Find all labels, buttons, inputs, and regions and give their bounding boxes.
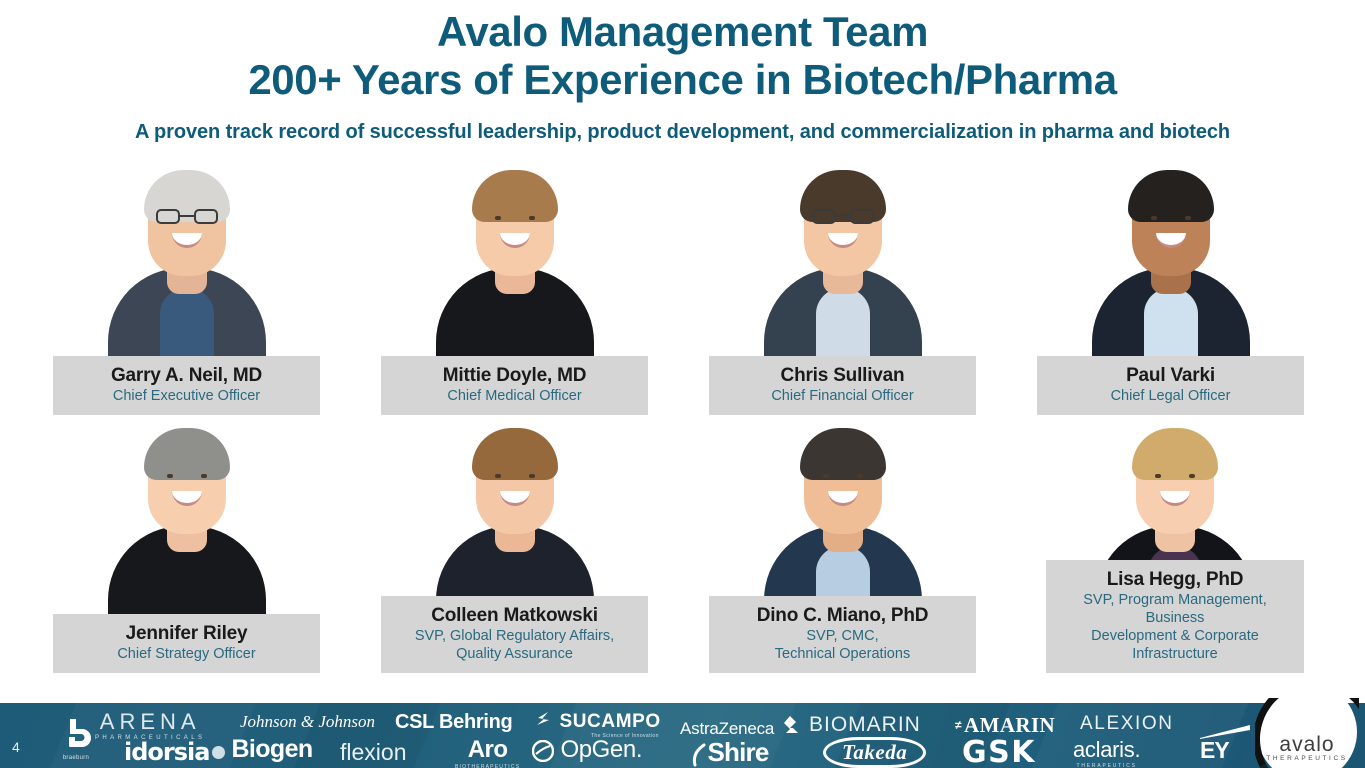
logo-takeda-text: Takeda [823, 737, 926, 768]
logo-aclaris: aclaris. THERAPEUTICS [1073, 737, 1140, 768]
member-name: Lisa Hegg, PhD [1052, 568, 1298, 591]
member-role-line2: Technical Operations [715, 645, 970, 663]
member-nameplate: Garry A. Neil, MD Chief Executive Office… [53, 356, 320, 415]
member-name: Dino C. Miano, PhD [715, 604, 970, 627]
logo-biogen: Biogen [212, 735, 313, 764]
member-photo [53, 160, 320, 360]
team-member-card[interactable]: Paul Varki Chief Legal Officer [1037, 160, 1304, 415]
member-role: Chief Legal Officer [1043, 387, 1298, 405]
member-name: Jennifer Riley [59, 622, 314, 645]
member-nameplate: Dino C. Miano, PhD SVP, CMC, Technical O… [709, 596, 976, 673]
team-grid: Garry A. Neil, MD Chief Executive Office… [0, 160, 1365, 690]
title-block: Avalo Management Team 200+ Years of Expe… [0, 8, 1365, 104]
logo-biomarin-text: BIOMARIN [809, 713, 921, 736]
logo-astrazeneca-text: AstraZeneca [680, 719, 774, 738]
member-nameplate: Mittie Doyle, MD Chief Medical Officer [381, 356, 648, 415]
page-subtitle: A proven track record of successful lead… [0, 120, 1365, 144]
logo-aro-text: Aro [468, 736, 508, 763]
page-title-line2: 200+ Years of Experience in Biotech/Phar… [0, 56, 1365, 104]
logo-shire-text: Shire [707, 737, 768, 767]
amarin-mark-icon: ≠ [955, 718, 962, 732]
member-nameplate: Jennifer Riley Chief Strategy Officer [53, 614, 320, 673]
logo-gsk: GSK [962, 735, 1036, 768]
team-member-card[interactable]: Dino C. Miano, PhD SVP, CMC, Technical O… [709, 418, 976, 673]
logo-aro-sub: BIOTHERAPEUTICS [455, 764, 520, 768]
team-member-card[interactable]: Lisa Hegg, PhD SVP, Program Management, … [1046, 418, 1304, 673]
logo-aclaris-text: aclaris. [1073, 737, 1140, 762]
member-role-line2: Development & Corporate Infrastructure [1052, 627, 1298, 663]
logo-braeburn-text: braeburn [58, 755, 94, 761]
logo-gsk-text: GSK [962, 735, 1036, 768]
logo-takeda: Takeda [823, 737, 926, 768]
astrazeneca-mark-icon [779, 715, 801, 737]
member-role: SVP, Program Management, Business [1052, 591, 1298, 627]
glasses-icon [156, 209, 218, 224]
logo-idorsia: idorsia [124, 738, 209, 766]
team-member-card[interactable]: Chris Sullivan Chief Financial Officer [709, 160, 976, 415]
logo-ey: EY [1200, 725, 1252, 764]
logo-opgen: OpGen. [532, 736, 642, 764]
logo-csl-behring: CSL Behring [395, 711, 512, 734]
member-name: Colleen Matkowski [387, 604, 642, 627]
braeburn-mark-icon [58, 717, 94, 751]
member-nameplate: Lisa Hegg, PhD SVP, Program Management, … [1046, 560, 1304, 673]
opgen-mark-icon [532, 740, 554, 762]
member-role: Chief Financial Officer [715, 387, 970, 405]
logo-jnj-text: Johnson & Johnson [240, 712, 375, 731]
logo-aclaris-sub: THERAPEUTICS [1073, 763, 1140, 768]
team-member-card[interactable]: Jennifer Riley Chief Strategy Officer [53, 418, 320, 673]
member-name: Chris Sullivan [715, 364, 970, 387]
shire-swoosh-icon [690, 743, 706, 767]
logo-shire: Shire [690, 737, 768, 768]
footer-logo-bar: 4 braeburn ARENA PHARMACEUTICALS idorsia… [0, 703, 1365, 768]
logo-flexion-text: flexion [340, 739, 406, 765]
team-row-2: Jennifer Riley Chief Strategy Officer [0, 418, 1365, 673]
page-title-line1: Avalo Management Team [0, 8, 1365, 56]
logo-aro: Aro BIOTHERAPEUTICS [455, 736, 520, 768]
logo-alexion-text: ALEXION [1080, 713, 1174, 734]
member-role: SVP, CMC, [715, 627, 970, 645]
logo-arena: ARENA PHARMACEUTICALS [95, 709, 205, 741]
logo-sucampo-text: SUCAMPO [559, 711, 660, 732]
partner-logo-list: braeburn ARENA PHARMACEUTICALS idorsia J… [40, 703, 1270, 768]
page-number: 4 [12, 739, 20, 755]
member-name: Garry A. Neil, MD [59, 364, 314, 387]
logo-alexion: ALEXION [1080, 713, 1174, 735]
member-photo [1037, 160, 1304, 360]
member-photo [709, 160, 976, 360]
team-member-card[interactable]: Colleen Matkowski SVP, Global Regulatory… [381, 418, 648, 673]
logo-amarin-text: AMARIN [964, 713, 1055, 737]
slide-root: Avalo Management Team 200+ Years of Expe… [0, 0, 1365, 768]
team-row-1: Garry A. Neil, MD Chief Executive Office… [0, 160, 1365, 415]
avalo-wordmark: avalo [1255, 734, 1359, 755]
logo-astrazeneca: AstraZeneca [680, 715, 801, 739]
logo-flexion: flexion [340, 739, 406, 766]
logo-idorsia-text: idorsia [124, 738, 209, 766]
member-name: Mittie Doyle, MD [387, 364, 642, 387]
member-role: Chief Strategy Officer [59, 645, 314, 663]
team-member-card[interactable]: Mittie Doyle, MD Chief Medical Officer [381, 160, 648, 415]
member-role: SVP, Global Regulatory Affairs, [387, 627, 642, 645]
member-photo [709, 418, 976, 618]
member-nameplate: Chris Sullivan Chief Financial Officer [709, 356, 976, 415]
member-photo [53, 418, 320, 618]
logo-biomarin: BIOMARIN [809, 713, 921, 737]
member-photo [381, 418, 648, 618]
member-name: Paul Varki [1043, 364, 1298, 387]
logo-opgen-text: OpGen. [560, 736, 642, 763]
team-member-card[interactable]: Garry A. Neil, MD Chief Executive Office… [53, 160, 320, 415]
member-photo [381, 160, 648, 360]
logo-arena-text: ARENA [100, 709, 201, 734]
logo-ey-text: EY [1200, 737, 1252, 764]
logo-braeburn: braeburn [58, 717, 94, 761]
avalo-brand-badge: avalo THERAPEUTICS [1255, 698, 1359, 768]
logo-johnson-and-johnson: Johnson & Johnson [240, 712, 375, 732]
biogen-dot-icon [212, 746, 225, 759]
member-nameplate: Paul Varki Chief Legal Officer [1037, 356, 1304, 415]
logo-sucampo: SUCAMPO The Science of Innovation [535, 711, 661, 739]
member-role: Chief Medical Officer [387, 387, 642, 405]
glasses-icon [812, 209, 874, 224]
logo-cslbehring-text: CSL Behring [395, 711, 512, 733]
logo-biogen-text: Biogen [231, 735, 312, 763]
sucampo-mark-icon [535, 711, 552, 731]
member-role: Chief Executive Officer [59, 387, 314, 405]
member-nameplate: Colleen Matkowski SVP, Global Regulatory… [381, 596, 648, 673]
avalo-tagline: THERAPEUTICS [1255, 755, 1359, 762]
member-role-line2: Quality Assurance [387, 645, 642, 663]
